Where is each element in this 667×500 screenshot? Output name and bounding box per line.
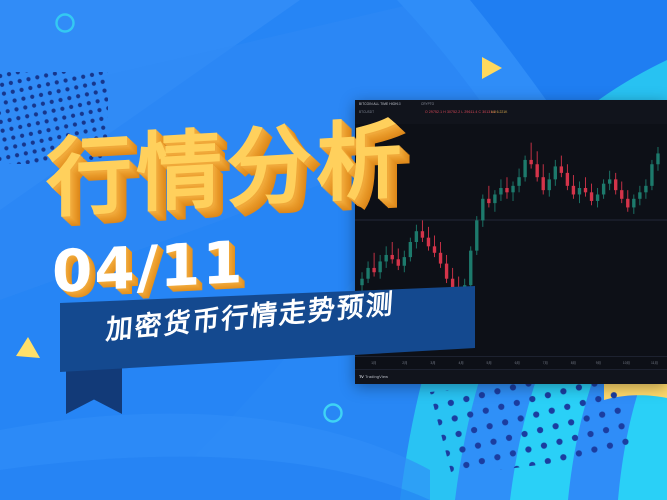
candle-body xyxy=(644,186,647,192)
ribbon-banner: 加密货币行情走势预测 xyxy=(60,286,480,416)
candle-body xyxy=(403,257,406,266)
x-axis-tick: 9月 xyxy=(596,360,601,365)
candle-body xyxy=(475,220,478,250)
candle-body xyxy=(427,238,430,247)
candle-body xyxy=(596,194,599,200)
candle-body xyxy=(542,177,545,190)
circle-outline-top xyxy=(53,11,77,35)
candle-body xyxy=(632,199,635,208)
x-axis-tick: 11月 xyxy=(651,360,658,365)
chart-symbol-label: BITCOIN ALL TIME HIGH xyxy=(359,102,398,106)
poster-canvas: BITCOIN ALL TIME HIGH 1D CRYPTO BTCUSDT … xyxy=(0,0,667,500)
candle-body xyxy=(566,173,569,186)
candle-body xyxy=(493,194,496,203)
chart-volume-value: Vol 6.221K xyxy=(491,110,507,114)
candle-body xyxy=(554,166,557,179)
candle-body xyxy=(415,231,418,242)
candle-body xyxy=(469,251,472,286)
candle-body xyxy=(584,188,587,192)
candle-body xyxy=(439,253,442,264)
candle-body xyxy=(511,186,514,192)
candle-body xyxy=(548,179,551,190)
candle-body xyxy=(378,261,381,272)
candle-body xyxy=(366,268,369,279)
candle-body xyxy=(487,199,490,203)
candle-body xyxy=(560,166,563,172)
candle-body xyxy=(499,188,502,194)
x-axis-tick: 5月 xyxy=(487,360,492,365)
candle-body xyxy=(384,255,387,261)
x-axis-tick: 10月 xyxy=(623,360,630,365)
candle-body xyxy=(517,177,520,186)
candle-body xyxy=(481,199,484,221)
candle-body xyxy=(421,231,424,237)
x-axis-tick: 8月 xyxy=(571,360,576,365)
triangle-right-icon xyxy=(480,55,504,81)
candle-body xyxy=(602,184,605,195)
candle-body xyxy=(409,242,412,257)
triangle-left-icon xyxy=(14,335,42,361)
candle-body xyxy=(626,199,629,208)
candle-body xyxy=(638,192,641,198)
candle-body xyxy=(529,160,532,164)
candle-body xyxy=(391,255,394,259)
page-title: 行情分析 xyxy=(46,117,406,223)
candle-body xyxy=(608,179,611,183)
candle-body xyxy=(578,188,581,194)
chart-ohlc-values: O 29752.1 H 30752.2 L 29611.4 C 30131.2 xyxy=(425,110,496,114)
chart-timeframe-label[interactable]: 1D xyxy=(397,102,401,106)
x-axis-tick: 6月 xyxy=(515,360,520,365)
candle-body xyxy=(590,192,593,201)
candle-body xyxy=(614,179,617,190)
candle-body xyxy=(372,268,375,272)
candle-body xyxy=(433,246,436,252)
x-axis-tick: 7月 xyxy=(543,360,548,365)
chart-exchange-label: CRYPTO xyxy=(421,102,434,106)
candle-body xyxy=(650,164,653,186)
candle-body xyxy=(505,188,508,192)
candle-body xyxy=(656,153,659,164)
candle-body xyxy=(397,259,400,265)
candle-body xyxy=(535,164,538,177)
candle-body xyxy=(572,186,575,195)
candle-body xyxy=(523,160,526,177)
candle-body xyxy=(620,190,623,199)
